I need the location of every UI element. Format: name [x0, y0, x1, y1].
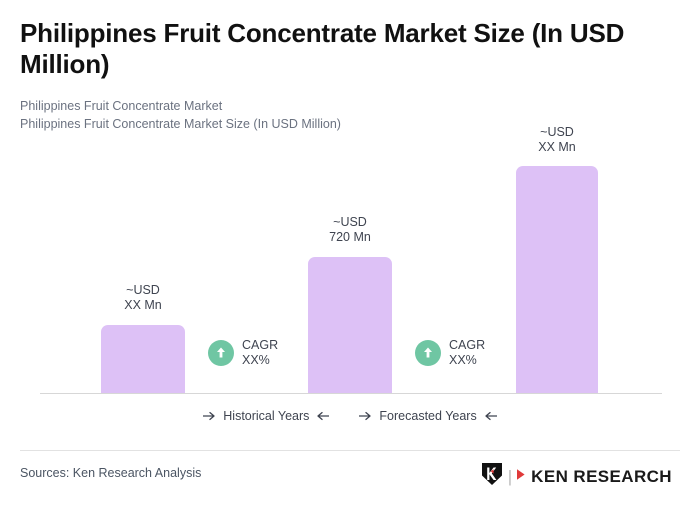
bar-historical-year[interactable]	[101, 325, 185, 394]
arrow-right-icon	[359, 411, 372, 421]
bar-value-label-3-line2: XX Mn	[516, 140, 598, 155]
bar-value-label-3: ~USD XX Mn	[516, 125, 598, 154]
plot-area: ~USD XX Mn ~USD 720 Mn ~USD XX Mn CAGR X…	[0, 0, 700, 400]
bar-base-year[interactable]	[308, 257, 392, 394]
legend-label-historical-years: Historical Years	[223, 409, 309, 423]
cagr-forecasted-line1: CAGR	[449, 338, 485, 353]
ken-research-shield-icon	[481, 462, 503, 491]
chart-canvas: Philippines Fruit Concentrate Market Siz…	[0, 0, 700, 520]
x-axis-line	[40, 393, 662, 394]
bar-value-label-1-line2: XX Mn	[101, 298, 185, 313]
arrow-up-icon	[415, 340, 441, 366]
bar-value-label-1-line1: ~USD	[101, 283, 185, 298]
legend-item-historical-years: Historical Years	[203, 409, 329, 423]
arrow-right-icon	[203, 411, 216, 421]
bar-forecasted-year[interactable]	[516, 166, 598, 394]
brand-wordmark: KEN RESEARCH	[531, 468, 672, 485]
cagr-historical-line1: CAGR	[242, 338, 278, 353]
brand-k-accent-icon	[517, 467, 526, 487]
cagr-badge-historical-text: CAGR XX%	[242, 338, 278, 367]
bar-value-label-2: ~USD 720 Mn	[308, 215, 392, 244]
bar-value-label-2-line1: ~USD	[308, 215, 392, 230]
bar-value-label-2-line2: 720 Mn	[308, 230, 392, 245]
cagr-badge-forecasted-text: CAGR XX%	[449, 338, 485, 367]
bar-value-label-1: ~USD XX Mn	[101, 283, 185, 312]
legend-item-forecasted-years: Forecasted Years	[359, 409, 496, 423]
sources-note: Sources: Ken Research Analysis	[20, 466, 201, 480]
cagr-badge-historical: CAGR XX%	[208, 338, 278, 367]
axis-legend: Historical Years Forecasted Years	[0, 409, 700, 423]
logo-divider: |	[508, 468, 512, 485]
bar-value-label-3-line1: ~USD	[516, 125, 598, 140]
cagr-badge-forecasted: CAGR XX%	[415, 338, 485, 367]
cagr-forecasted-line2: XX%	[449, 353, 485, 368]
ken-research-logo: | KEN RESEARCH	[481, 462, 672, 491]
legend-label-forecasted-years: Forecasted Years	[379, 409, 476, 423]
arrow-left-icon	[316, 411, 329, 421]
footer-divider	[20, 450, 680, 451]
arrow-up-icon	[208, 340, 234, 366]
cagr-historical-line2: XX%	[242, 353, 278, 368]
arrow-left-icon	[484, 411, 497, 421]
